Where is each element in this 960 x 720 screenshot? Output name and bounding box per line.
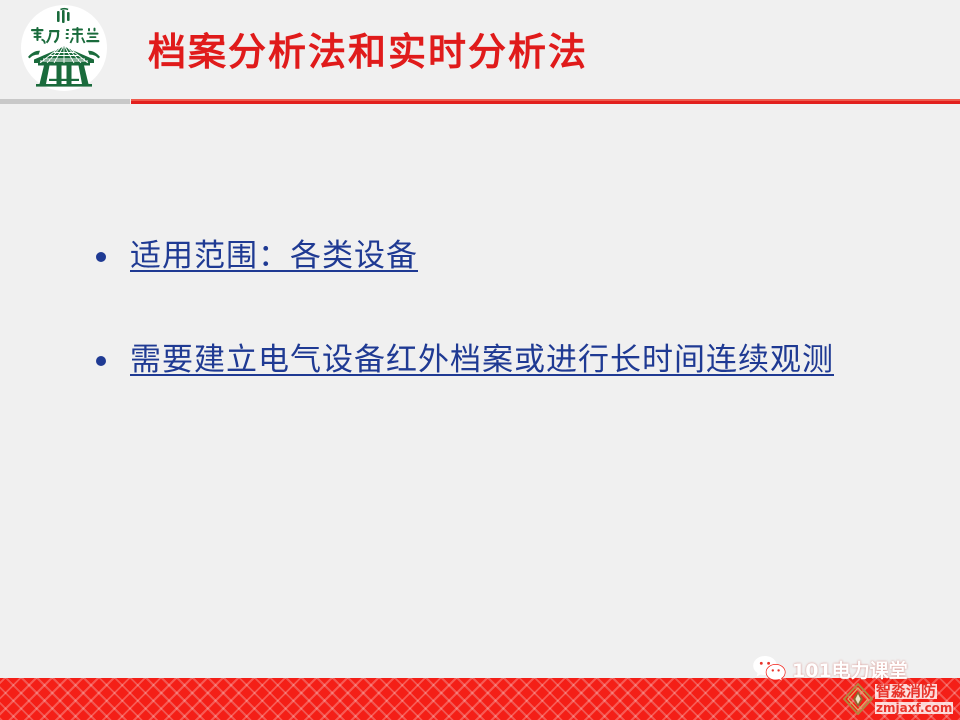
page-title: 档案分析法和实时分析法 (148, 28, 588, 76)
bullet-text-requirement: 需要建立电气设备红外档案或进行长时间连续观测 (130, 336, 858, 384)
watermark-text: 智淼消防 zmjaxf.com (875, 683, 960, 715)
zhimiao-logo-icon (843, 683, 873, 715)
site-watermark: 智淼消防 zmjaxf.com (843, 677, 960, 720)
slide: 档案分析法和实时分析法 适用范围：各类设备 需要建立电气设备红外档案或进行长时间… (0, 0, 960, 720)
wechat-icon (752, 654, 786, 684)
bullet-dot-icon (96, 356, 106, 366)
watermark-title: 智淼消防 (875, 684, 937, 699)
slide-header: 档案分析法和实时分析法 (0, 0, 960, 108)
watermark-url: zmjaxf.com (875, 702, 953, 714)
header-divider-red-highlight (131, 99, 960, 101)
bullet-text-scope: 适用范围：各类设备 (130, 232, 896, 280)
header-divider-gray (0, 99, 130, 104)
dianli-ketang-emblem-icon (16, 2, 112, 96)
bullet-list: 适用范围：各类设备 需要建立电气设备红外档案或进行长时间连续观测 (96, 232, 896, 384)
bullet-dot-icon (96, 252, 106, 262)
list-item: 适用范围：各类设备 (96, 232, 896, 280)
list-item: 需要建立电气设备红外档案或进行长时间连续观测 (96, 336, 896, 384)
